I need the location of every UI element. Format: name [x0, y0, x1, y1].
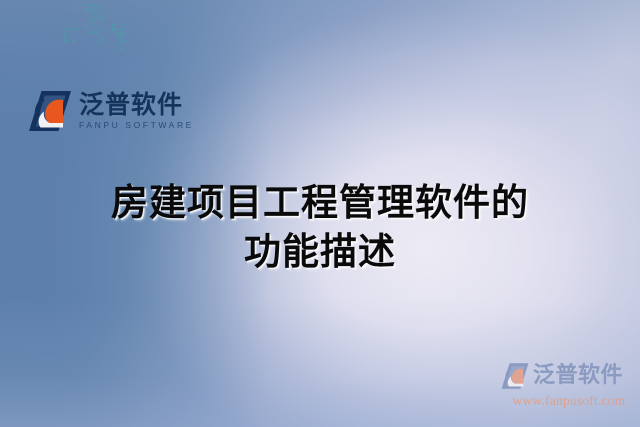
- watermark-name-cn: 泛普软件: [533, 365, 623, 387]
- fanpu-logo-mark-watermark-icon: [500, 362, 530, 390]
- brand-text: 泛普软件 FANPU SOFTWARE: [79, 92, 194, 130]
- page-title: 房建项目工程管理软件的 功能描述: [0, 178, 640, 276]
- page-title-line-2: 功能描述: [0, 227, 640, 276]
- brand-name-en: FANPU SOFTWARE: [79, 120, 194, 130]
- slide-canvas: 泛普软件 FANPU SOFTWARE 房建项目工程管理软件的 功能描述 泛普软…: [0, 0, 640, 427]
- page-title-line-1: 房建项目工程管理软件的: [0, 178, 640, 227]
- watermark-logo-row: 泛普软件: [500, 362, 638, 390]
- watermark: 泛普软件 www.fanpusoft.com: [500, 362, 638, 420]
- brand-name-cn: 泛普软件: [79, 92, 194, 118]
- brand-logo: 泛普软件 FANPU SOFTWARE: [27, 86, 207, 136]
- fanpu-logo-mark-icon: [27, 89, 73, 133]
- watermark-url: www.fanpusoft.com: [500, 393, 638, 409]
- pixel-skyline-icon: [52, 0, 152, 88]
